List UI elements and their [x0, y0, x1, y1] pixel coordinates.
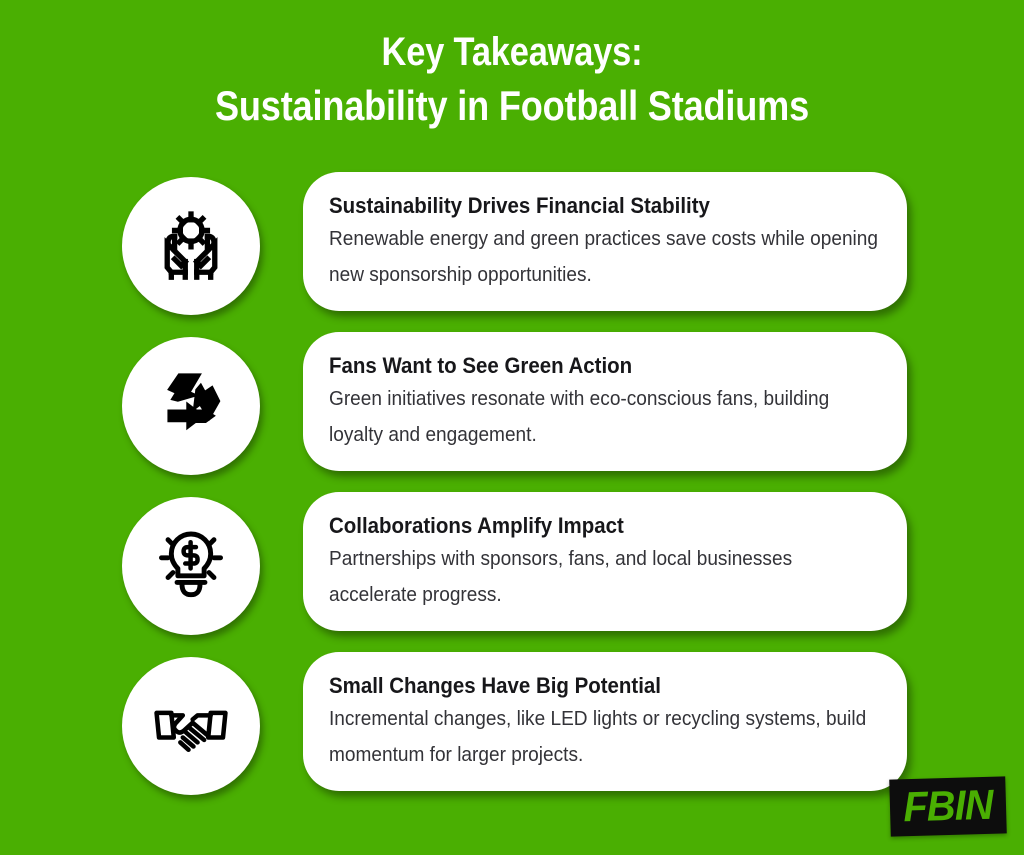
lightbulb-dollar-icon [122, 497, 260, 635]
handshake-icon [122, 657, 260, 795]
recycling-arrows-icon [122, 337, 260, 475]
takeaway-item: Collaborations Amplify Impact Partnershi… [0, 492, 1024, 652]
takeaway-item: Small Changes Have Big Potential Increme… [0, 652, 1024, 812]
takeaway-body: Partnerships with sponsors, fans, and lo… [329, 541, 881, 613]
takeaway-list: Sustainability Drives Financial Stabilit… [0, 172, 1024, 812]
page-title-line-1: Key Takeaways: [72, 26, 953, 79]
takeaway-card: Collaborations Amplify Impact Partnershi… [303, 492, 907, 631]
takeaway-heading: Sustainability Drives Financial Stabilit… [329, 192, 841, 219]
hands-holding-gear-icon [122, 177, 260, 315]
page-title: Key Takeaways: Sustainability in Footbal… [0, 26, 1024, 132]
fbin-logo-text: FBIN [903, 784, 993, 828]
takeaway-item: Fans Want to See Green Action Green init… [0, 332, 1024, 492]
takeaway-card: Sustainability Drives Financial Stabilit… [303, 172, 907, 311]
takeaway-card: Small Changes Have Big Potential Increme… [303, 652, 907, 791]
page-title-line-2: Sustainability in Football Stadiums [72, 79, 953, 132]
takeaway-heading: Collaborations Amplify Impact [329, 512, 841, 539]
takeaway-body: Renewable energy and green practices sav… [329, 221, 881, 293]
takeaway-heading: Fans Want to See Green Action [329, 352, 841, 379]
infographic-page: { "theme": { "background_color": "#4aaf0… [0, 0, 1024, 855]
takeaway-item: Sustainability Drives Financial Stabilit… [0, 172, 1024, 332]
takeaway-heading: Small Changes Have Big Potential [329, 672, 841, 699]
fbin-logo: FBIN [889, 776, 1007, 836]
takeaway-card: Fans Want to See Green Action Green init… [303, 332, 907, 471]
takeaway-body: Incremental changes, like LED lights or … [329, 701, 881, 773]
takeaway-body: Green initiatives resonate with eco-cons… [329, 381, 881, 453]
